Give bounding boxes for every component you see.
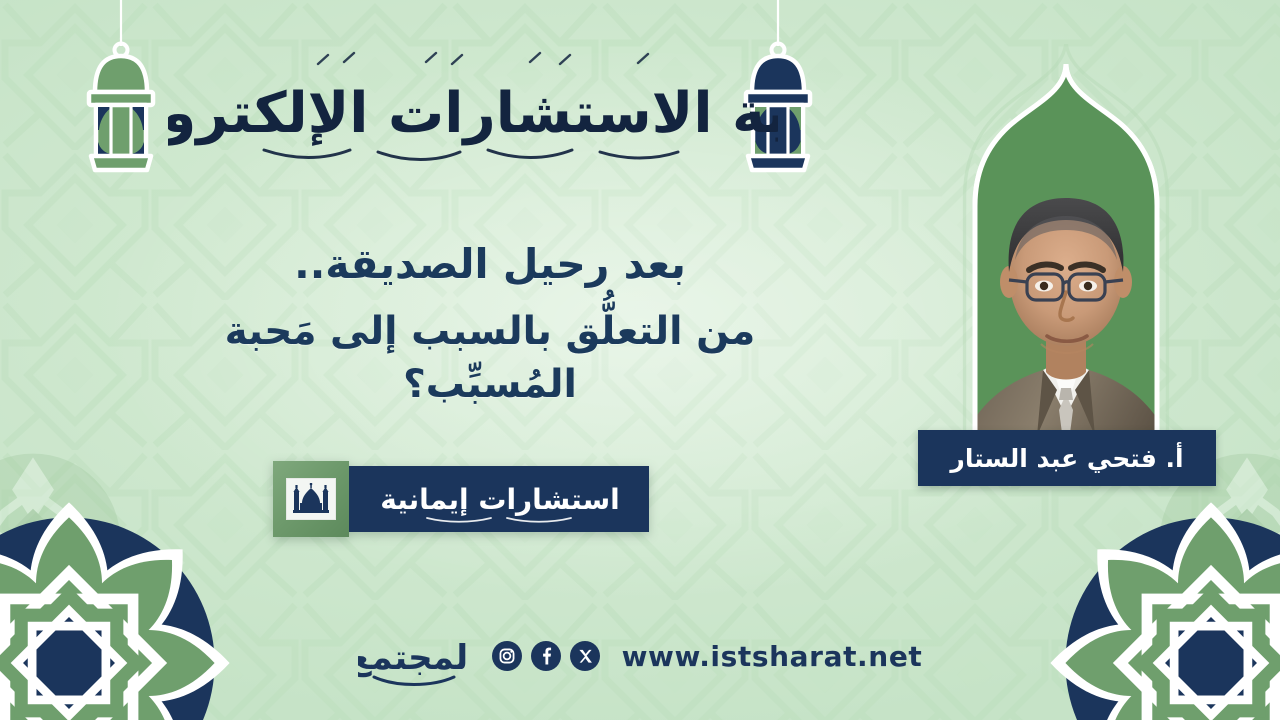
mosque-icon [291, 483, 331, 515]
main-title-block: بعد رحيل الصديقة.. من التعلُّق بالسبب إل… [140, 236, 840, 412]
title-line-2: من التعلُّق بالسبب إلى مَحبة المُسبِّب؟ [140, 305, 840, 413]
social-links [492, 641, 600, 671]
footer-logo-text: المجتمع [358, 638, 470, 678]
category-badge[interactable]: استشارات إيمانية [273, 461, 645, 537]
badge-icon-frame [273, 461, 349, 537]
rosette-ghost-left [0, 446, 128, 636]
title-line-1: بعد رحيل الصديقة.. [140, 236, 840, 293]
x-twitter-icon[interactable] [570, 641, 600, 671]
badge-text-panel: استشارات إيمانية [349, 466, 649, 532]
facebook-icon[interactable] [531, 641, 561, 671]
badge-label: استشارات إيمانية [380, 483, 620, 517]
footer-logo[interactable]: المجتمع [358, 619, 470, 693]
badge-icon-tile [286, 478, 336, 520]
speaker-nameplate: أ. فتحي عبد الستار [918, 430, 1216, 486]
instagram-icon[interactable] [492, 641, 522, 671]
header-calligraphy: بوابة الاستشارات الإلكترونية [168, 46, 778, 168]
poster-canvas: بوابة الاستشارات الإلكترونية بعد رحيل ال… [0, 0, 1280, 720]
speaker-portrait [905, 44, 1227, 484]
footer-bar: المجتمع www.istsharat.net [0, 614, 1280, 698]
speaker-name: أ. فتحي عبد الستار [950, 444, 1183, 473]
website-url[interactable]: www.istsharat.net [622, 640, 923, 673]
lantern-icon-left [78, 0, 164, 175]
header-calligraphy-text: بوابة الاستشارات الإلكترونية [168, 81, 778, 146]
